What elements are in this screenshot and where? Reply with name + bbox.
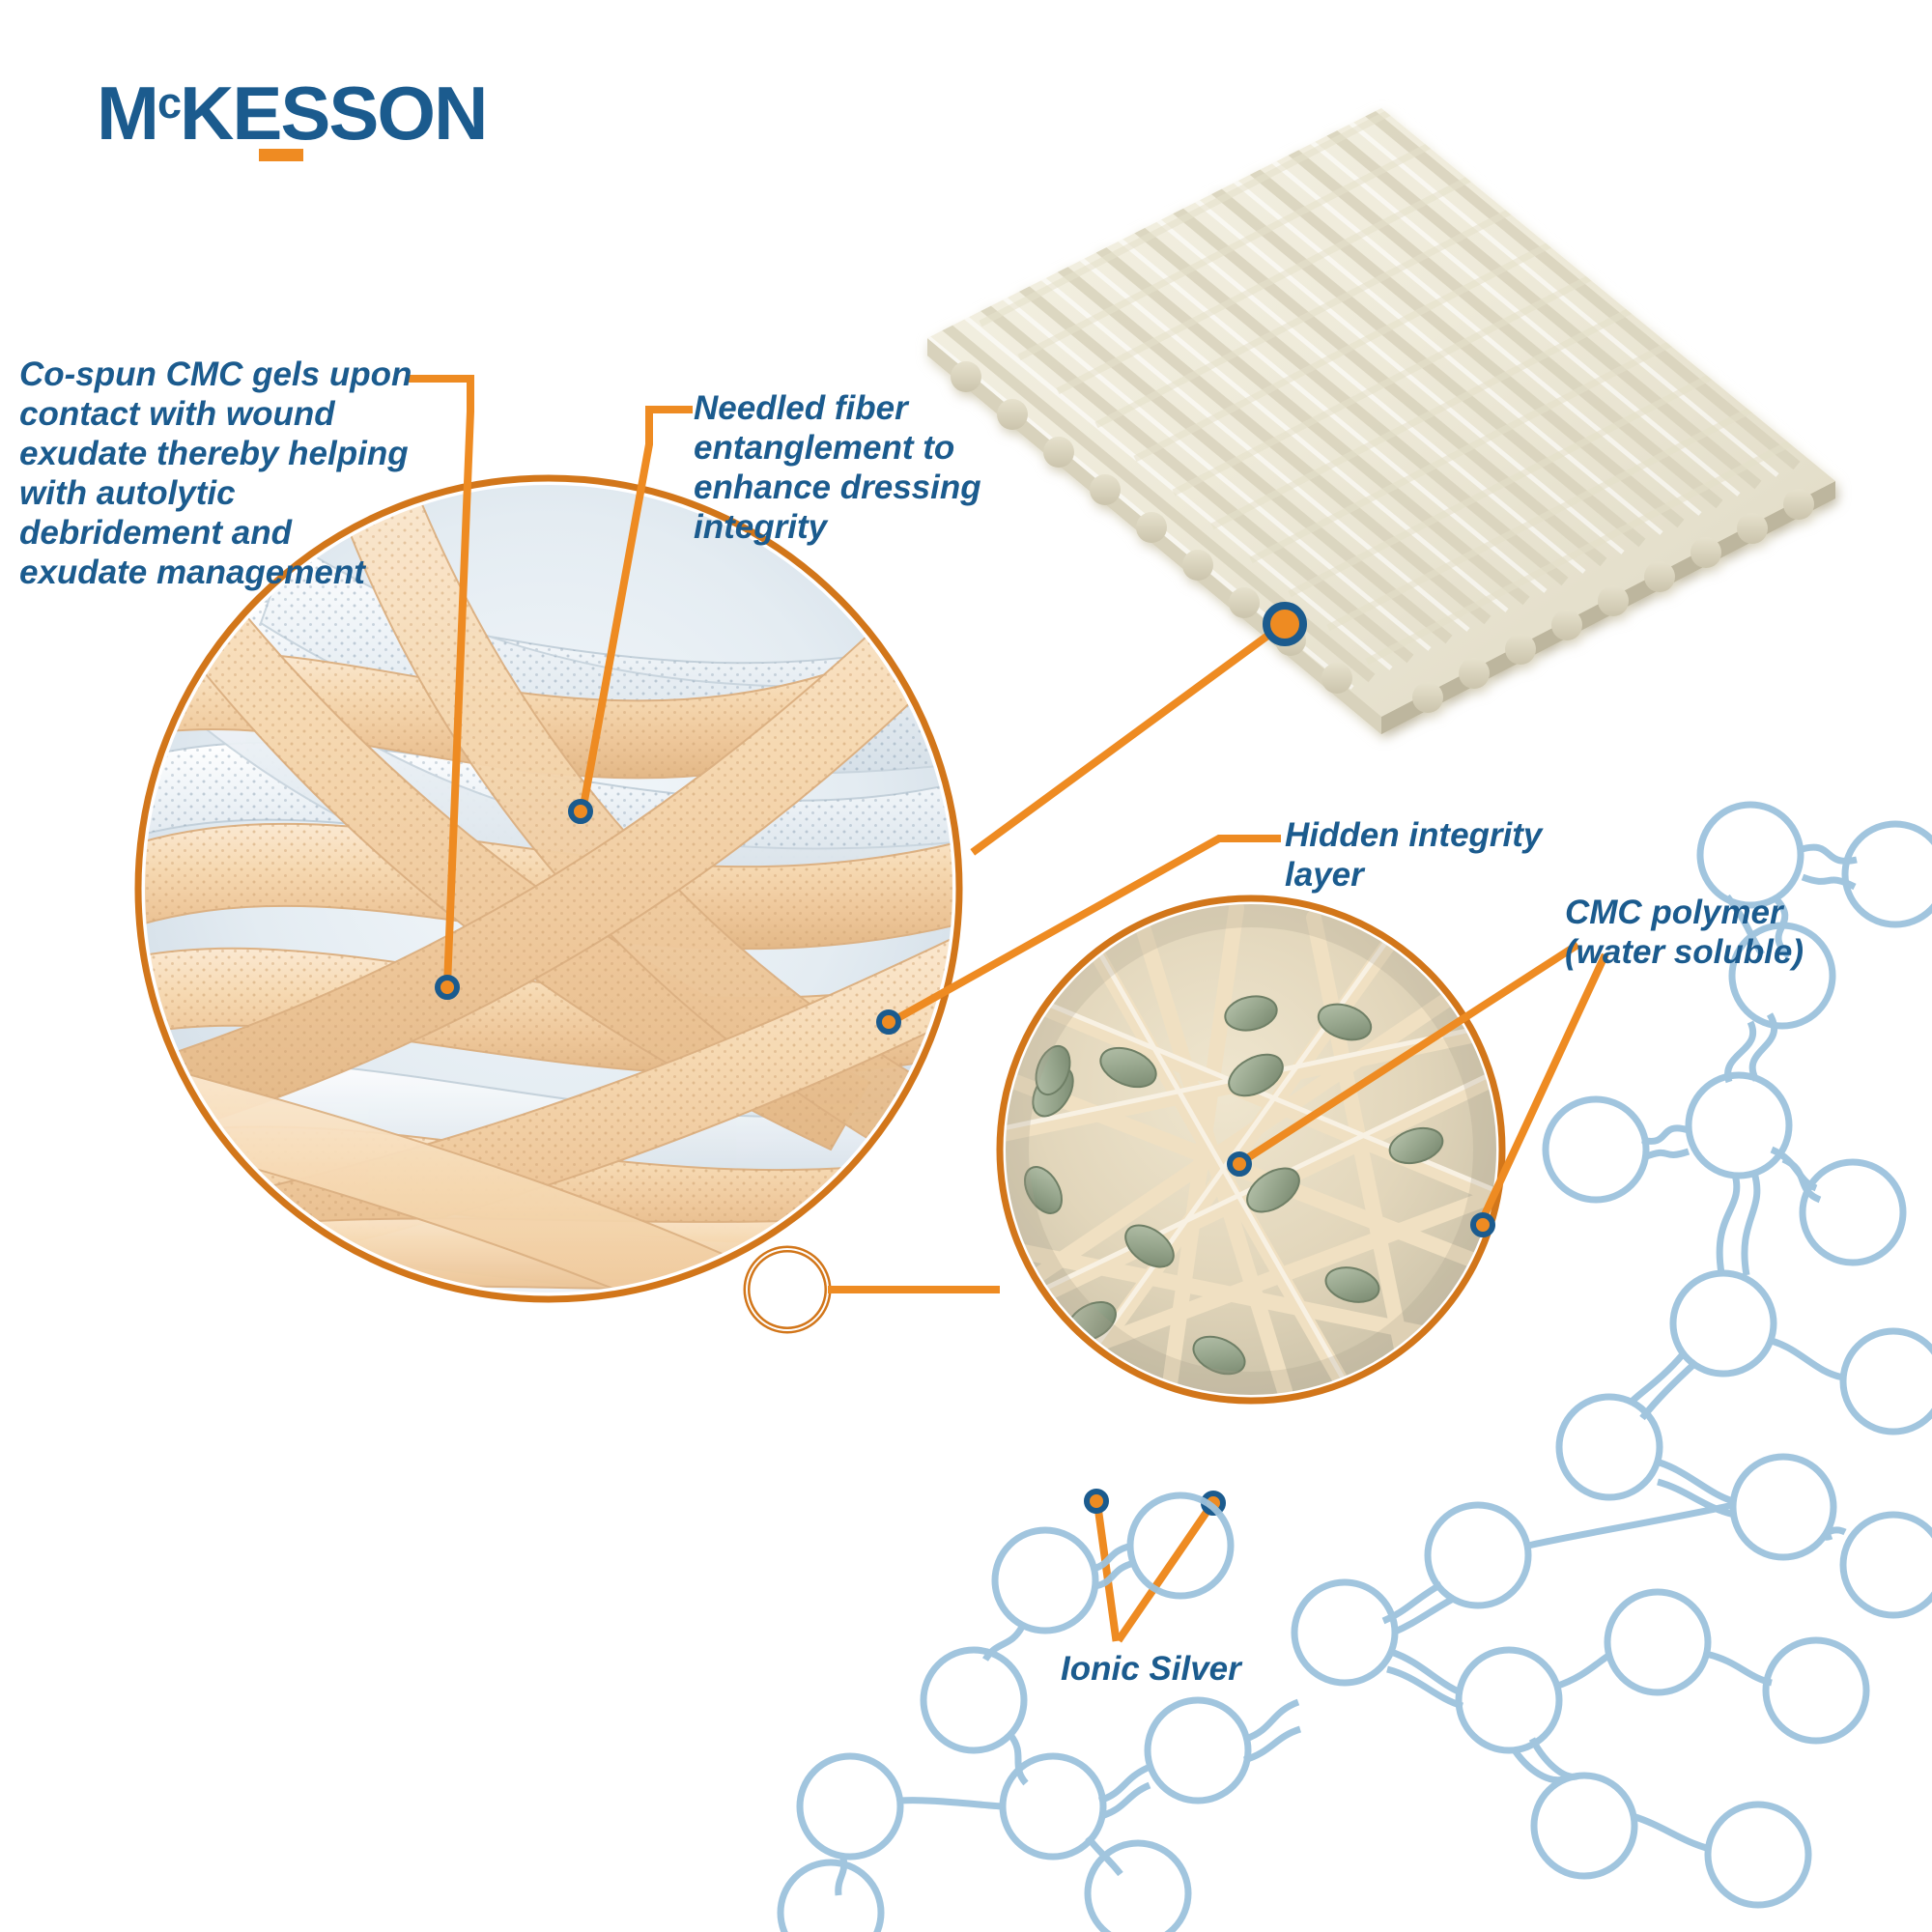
leader-pad bbox=[976, 626, 1281, 850]
callout-hidden-integrity-layer: Hidden integrity layer bbox=[1285, 816, 1575, 895]
callout-ionic-silver: Ionic Silver bbox=[1061, 1650, 1350, 1690]
callout-cospun-cmc: Co-spun CMC gels upon contact with wound… bbox=[19, 355, 425, 593]
marker-dot-cmc-b bbox=[1473, 1215, 1492, 1235]
magnifier-target-ring bbox=[747, 1249, 1000, 1330]
callout-needled-fiber: Needled fiber entanglement to enhance dr… bbox=[694, 389, 983, 548]
marker-dot-pad bbox=[1266, 606, 1303, 642]
inset-magnified-circle bbox=[966, 824, 1546, 1401]
infographic-canvas: McKESSON bbox=[0, 0, 1932, 1932]
marker-dot-needled bbox=[571, 802, 590, 821]
callout-cmc-polymer: CMC polymer (water soluble) bbox=[1565, 894, 1884, 973]
product-pad-illustration bbox=[874, 58, 1835, 734]
marker-dot-hidden bbox=[879, 1012, 898, 1032]
leader-silver-a bbox=[1097, 1503, 1116, 1637]
main-magnified-circle bbox=[77, 464, 1009, 1497]
marker-dot-silver-a bbox=[1087, 1492, 1106, 1511]
marker-dot-cospun bbox=[438, 978, 457, 997]
marker-dot-cmc-a bbox=[1230, 1154, 1249, 1174]
